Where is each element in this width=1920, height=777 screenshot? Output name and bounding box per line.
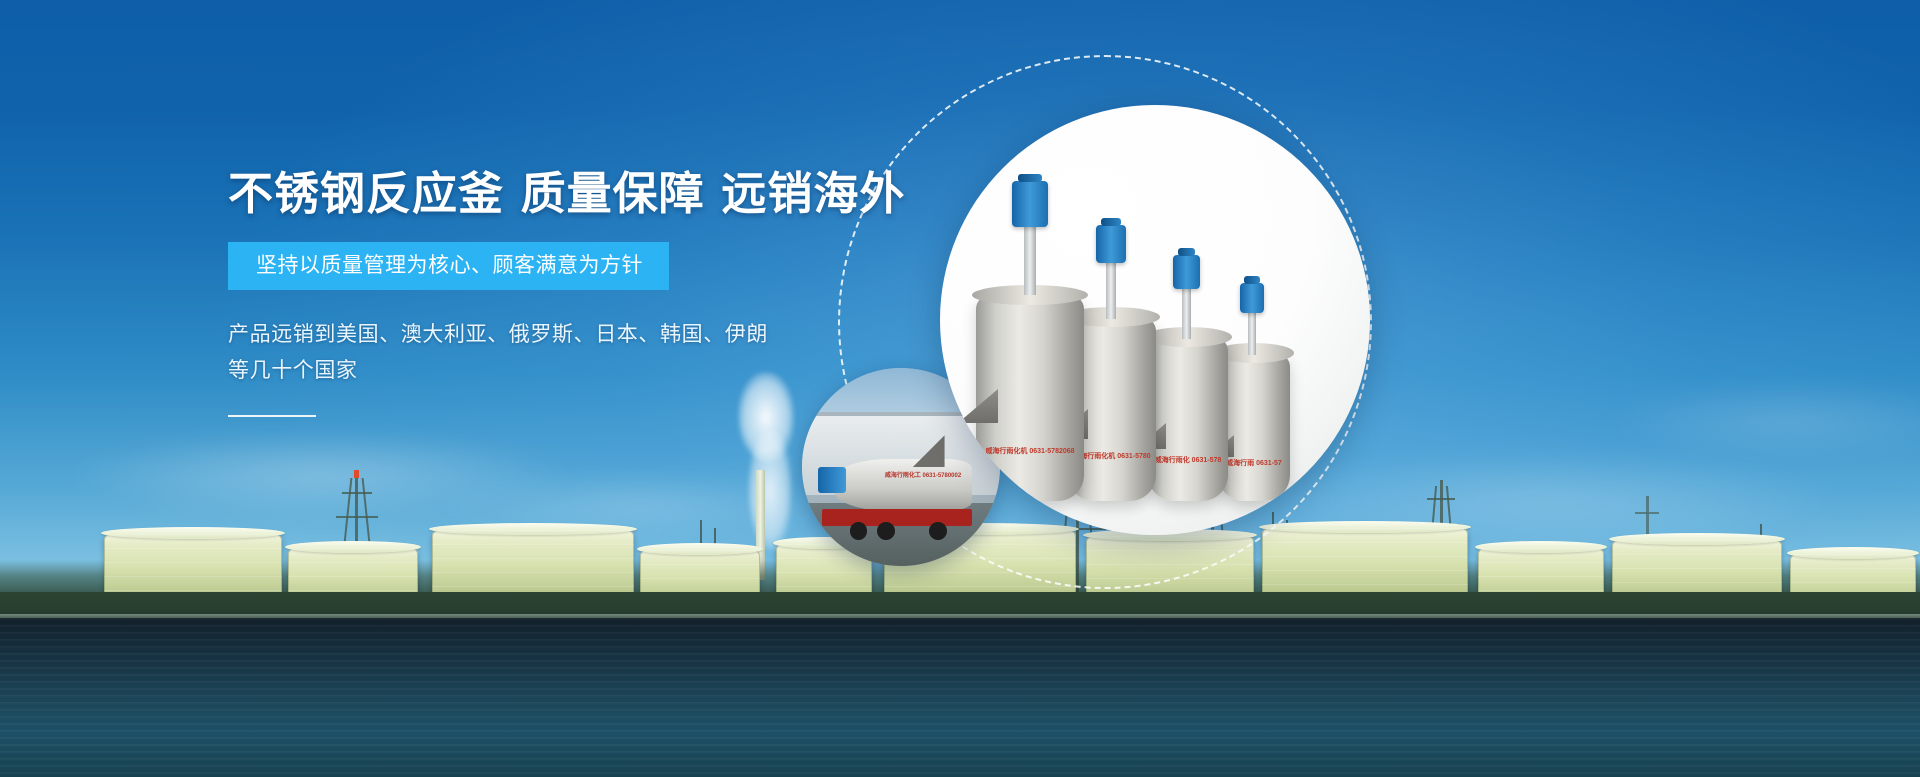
reactor-label: 威海行雨化机 0631-5782068	[982, 447, 1077, 456]
product-photo-main: 威海行雨 0631-57 威海行雨化 0631-578 威海行雨化机 0631-…	[940, 105, 1370, 535]
reactor-label: 威海行雨 0631-57	[1222, 459, 1285, 468]
agitator-motor	[1012, 181, 1048, 227]
banner-headline: 不锈钢反应釜 质量保障 远销海外	[228, 168, 988, 220]
vessel-motor	[818, 467, 846, 493]
agitator-shaft	[1106, 261, 1116, 319]
agitator-motor	[1240, 283, 1264, 313]
banner-description: 产品远销到美国、澳大利亚、俄罗斯、日本、韩国、伊朗 等几十个国家	[228, 317, 988, 389]
agitator-motor	[1173, 255, 1200, 289]
agitator-motor	[1096, 225, 1126, 263]
agitator-shaft	[1182, 287, 1191, 339]
banner-copy: 不锈钢反应釜 质量保障 远销海外 坚持以质量管理为核心、顾客满意为方针 产品远销…	[228, 168, 988, 417]
divider-line	[228, 415, 316, 417]
description-line-2: 等几十个国家	[228, 353, 988, 389]
reactor-label: 威海行雨化 0631-578	[1153, 456, 1223, 465]
description-line-1: 产品远销到美国、澳大利亚、俄罗斯、日本、韩国、伊朗	[228, 317, 988, 353]
hero-banner: 威海行雨化工 0631-5780002 威海行雨 0631-57 威海行雨化 0…	[0, 0, 1920, 777]
banner-tagline-bar: 坚持以质量管理为核心、顾客满意为方针	[228, 242, 669, 290]
reactor-label: 威海行雨化机 0631-5780	[1073, 452, 1150, 461]
truck-wheel	[929, 522, 947, 540]
agitator-shaft	[1024, 225, 1036, 295]
photo-reactor-vessel: 威海行雨化工 0631-5780002	[834, 459, 973, 510]
agitator-shaft	[1248, 311, 1256, 355]
reactor-vessel: 威海行雨 0631-57	[1218, 353, 1290, 501]
reactor-vessel: 威海行雨化 0631-578	[1148, 337, 1228, 501]
water-reflection	[0, 618, 1920, 777]
vessel-label: 威海行雨化工 0631-5780002	[885, 473, 961, 480]
truck-trailer	[822, 509, 972, 527]
